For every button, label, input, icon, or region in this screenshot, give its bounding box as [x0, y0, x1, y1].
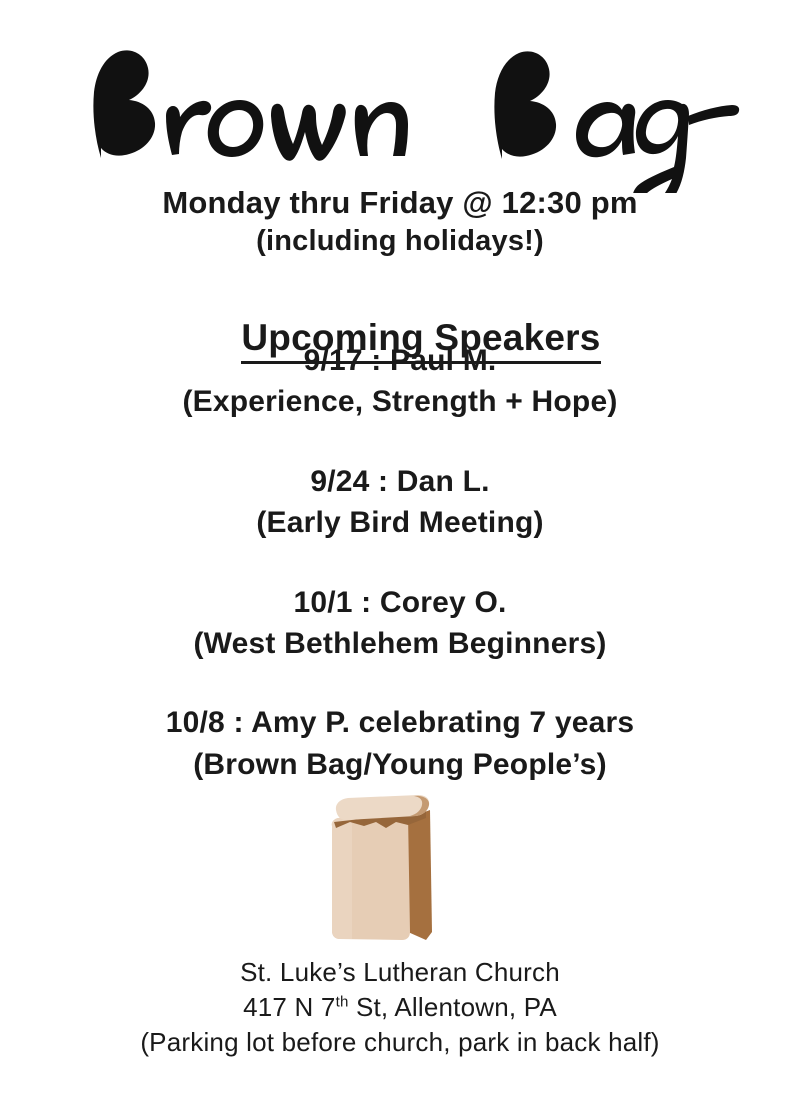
- speaker-headline: 9/24 : Dan L.: [0, 461, 800, 502]
- speaker-list: 9/17 : Paul M. (Experience, Strength + H…: [0, 340, 800, 785]
- speaker-entry: 9/24 : Dan L. (Early Bird Meeting): [0, 461, 800, 544]
- venue-name: St. Luke’s Lutheran Church: [0, 955, 800, 990]
- flyer-title: Brown Bag: [0, 18, 800, 193]
- speaker-entry: 10/1 : Corey O. (West Bethlehem Beginner…: [0, 582, 800, 665]
- bag-side-panel: [408, 810, 432, 940]
- bag-front-highlight: [332, 817, 352, 939]
- venue-parking-note: (Parking lot before church, park in back…: [0, 1025, 800, 1060]
- brown-bag-flyer: Brown Bag: [0, 0, 800, 1120]
- venue-block: St. Luke’s Lutheran Church 417 N 7th St,…: [0, 955, 800, 1060]
- schedule-holiday-note: (including holidays!): [0, 225, 800, 258]
- speaker-group: (Early Bird Meeting): [0, 502, 800, 543]
- speaker-headline: 10/1 : Corey O.: [0, 582, 800, 623]
- speaker-group: (Experience, Strength + Hope): [0, 381, 800, 422]
- venue-address-superscript: th: [336, 993, 349, 1010]
- speaker-entry: 10/8 : Amy P. celebrating 7 years (Brown…: [0, 702, 800, 785]
- venue-address: 417 N 7th St, Allentown, PA: [0, 990, 800, 1025]
- speaker-headline: 9/17 : Paul M.: [0, 340, 800, 381]
- speaker-entry: 9/17 : Paul M. (Experience, Strength + H…: [0, 340, 800, 423]
- schedule-days-time: Monday thru Friday @ 12:30 pm: [0, 185, 800, 221]
- paper-bag-illustration: [322, 792, 450, 948]
- venue-address-prefix: 417 N 7: [243, 992, 335, 1022]
- venue-address-suffix: St, Allentown, PA: [349, 992, 557, 1022]
- speaker-group: (Brown Bag/Young People’s): [0, 744, 800, 785]
- speaker-group: (West Bethlehem Beginners): [0, 623, 800, 664]
- title-script-glyphs: [93, 50, 739, 193]
- speaker-headline: 10/8 : Amy P. celebrating 7 years: [0, 702, 800, 743]
